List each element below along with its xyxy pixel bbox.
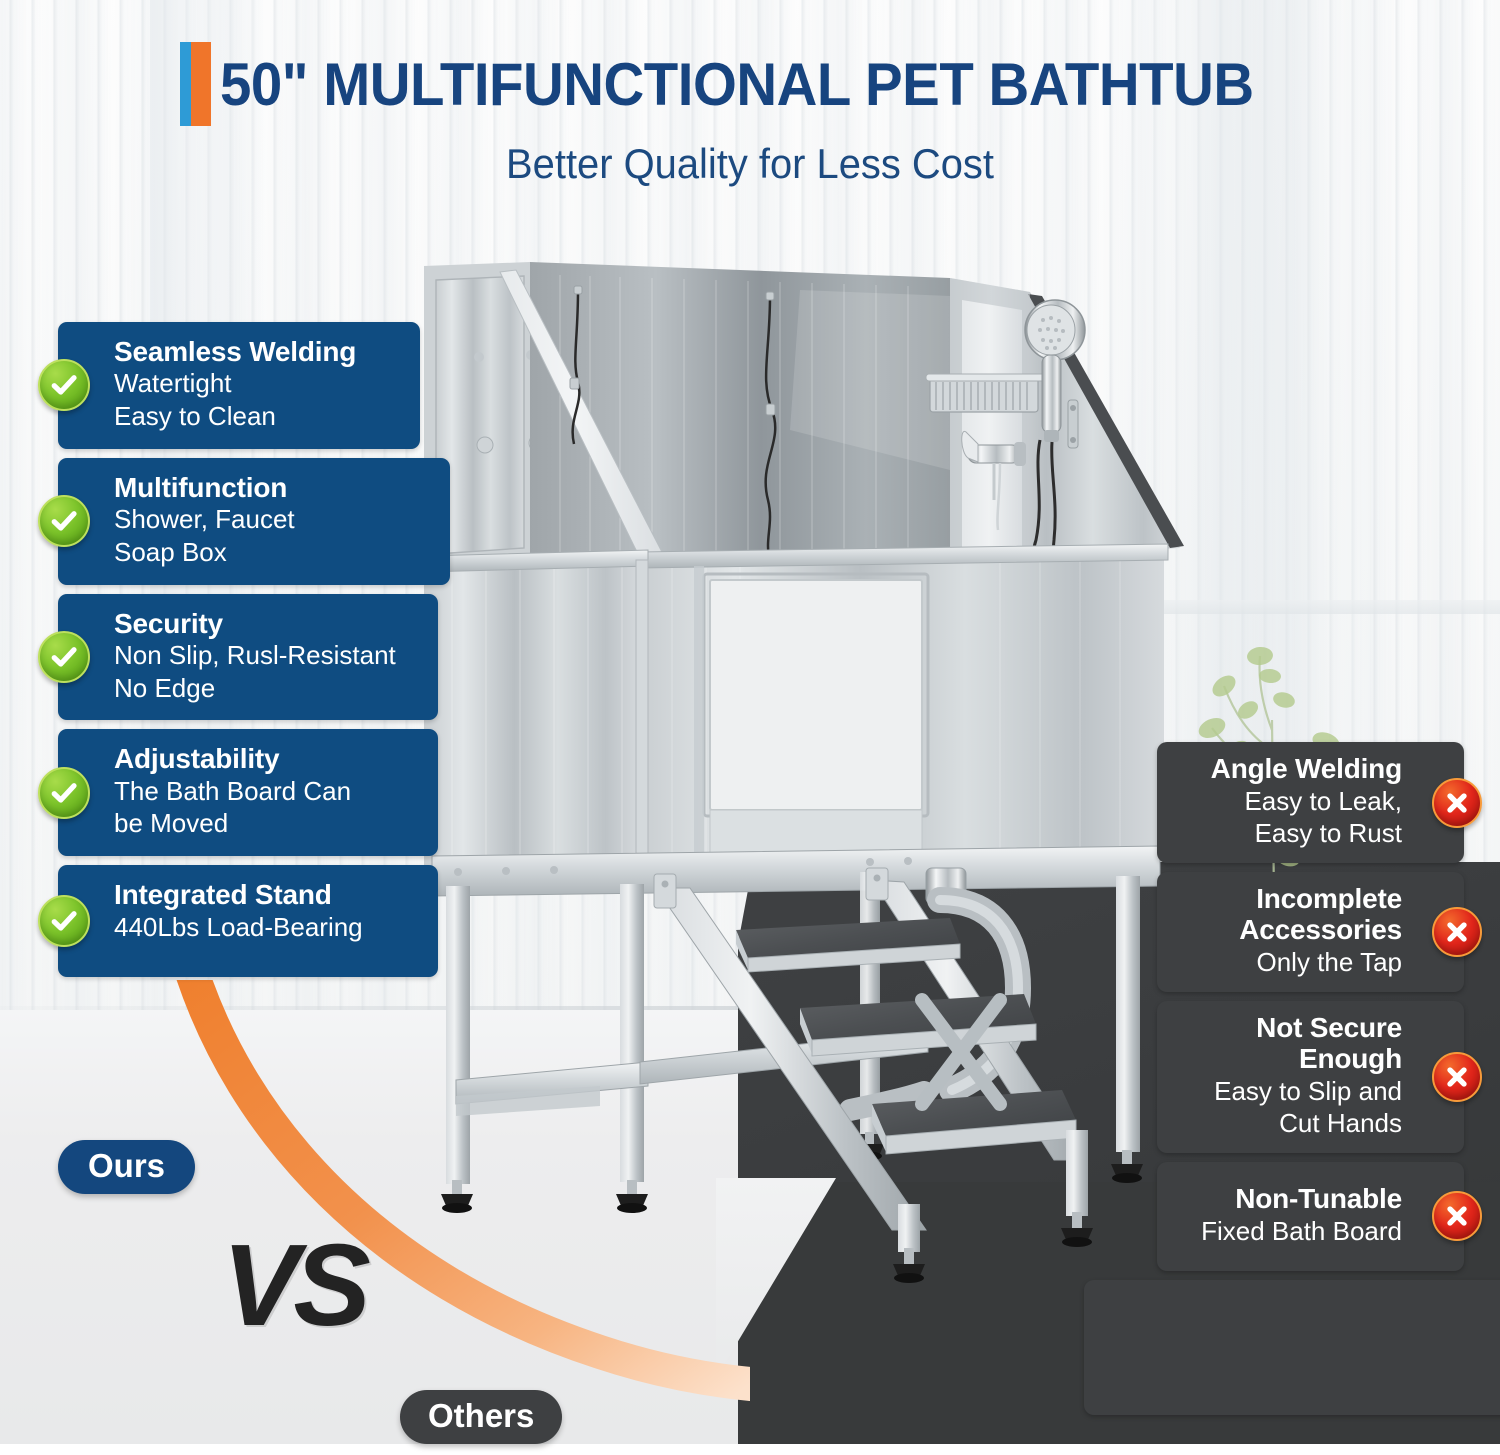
pro-title: Integrated Stand — [114, 879, 422, 910]
con-title: Non-Tunable — [1175, 1184, 1402, 1215]
cons-list: Angle Welding Easy to Leak, Easy to Rust… — [1084, 742, 1464, 1424]
check-circle-icon — [38, 895, 90, 947]
pro-item-integrated-stand[interactable]: Integrated Stand 440Lbs Load-Bearing — [58, 865, 438, 977]
pro-desc-line1: Non Slip, Rusl-Resistant — [114, 640, 422, 672]
con-title-line1: Incomplete — [1175, 884, 1402, 915]
pro-title: Multifunction — [114, 472, 434, 503]
con-item-incomplete-accessories[interactable]: Incomplete Accessories Only the Tap — [1157, 872, 1464, 992]
con-item-angle-welding[interactable]: Angle Welding Easy to Leak, Easy to Rust — [1157, 742, 1464, 863]
title-accent-bars — [180, 42, 211, 126]
pros-list: Seamless Welding Watertight Easy to Clea… — [58, 322, 478, 986]
pro-desc-line2: Easy to Clean — [114, 401, 404, 433]
pro-desc-line2: Soap Box — [114, 537, 434, 569]
con-desc-line2: Easy to Break — [1102, 1362, 1500, 1393]
con-desc-line1: Easy to Slip and — [1175, 1076, 1402, 1107]
pro-desc-line2: be Moved — [114, 808, 422, 840]
con-title: Spllce Type — [1102, 1298, 1500, 1329]
pro-desc-line1: 440Lbs Load-Bearing — [114, 912, 422, 944]
con-title: Angle Welding — [1175, 754, 1402, 785]
con-desc-line1: Easy to Leak, — [1175, 786, 1402, 817]
x-circle-icon — [1432, 907, 1482, 957]
check-circle-icon — [38, 767, 90, 819]
con-desc-line2: Cut Hands — [1175, 1108, 1402, 1139]
badge-ours: Ours — [58, 1140, 195, 1194]
con-item-not-secure-enough[interactable]: Not Secure Enough Easy to Slip and Cut H… — [1157, 1001, 1464, 1153]
badge-others: Others — [400, 1390, 562, 1444]
pro-title: Seamless Welding — [114, 336, 404, 367]
pro-desc-line1: Watertight — [114, 368, 404, 400]
pro-desc-line2: No Edge — [114, 673, 422, 705]
pro-item-security[interactable]: Security Non Slip, Rusl-Resistant No Edg… — [58, 594, 438, 721]
con-item-splice-type[interactable]: Spllce Type Small Bearing Capacity Easy … — [1084, 1280, 1500, 1415]
check-circle-icon — [38, 631, 90, 683]
pro-desc-line1: The Bath Board Can — [114, 776, 422, 808]
page-subtitle: Better Quality for Less Cost — [38, 140, 1463, 188]
con-title-line2: Enough — [1175, 1044, 1402, 1075]
header: 50" MULTIFUNCTIONAL PET BATHTUB Better Q… — [0, 0, 1500, 188]
accent-bar-blue — [180, 42, 191, 126]
con-title-line1: Not Secure — [1175, 1013, 1402, 1044]
vs-label: VS — [222, 1218, 365, 1352]
con-item-non-tunable[interactable]: Non-Tunable Fixed Bath Board — [1157, 1162, 1464, 1271]
x-circle-icon — [1432, 1191, 1482, 1241]
x-circle-icon — [1432, 1052, 1482, 1102]
pro-desc-line1: Shower, Faucet — [114, 504, 434, 536]
con-desc-line1: Small Bearing Capacity — [1102, 1330, 1500, 1361]
check-circle-icon — [38, 359, 90, 411]
title-row: 50" MULTIFUNCTIONAL PET BATHTUB — [0, 0, 1500, 126]
page-title: 50" MULTIFUNCTIONAL PET BATHTUB — [220, 50, 1254, 119]
x-circle-icon — [1432, 778, 1482, 828]
pro-item-multifunction[interactable]: Multifunction Shower, Faucet Soap Box — [58, 458, 450, 585]
pro-item-seamless-welding[interactable]: Seamless Welding Watertight Easy to Clea… — [58, 322, 420, 449]
pro-title: Adjustability — [114, 743, 422, 774]
orange-swoosh-arc — [130, 980, 750, 1450]
accent-bar-orange — [191, 42, 211, 126]
pro-title: Security — [114, 608, 422, 639]
con-desc-line1: Fixed Bath Board — [1175, 1216, 1402, 1247]
con-desc-line2: Easy to Rust — [1175, 818, 1402, 849]
check-circle-icon — [38, 495, 90, 547]
con-desc-line1: Only the Tap — [1175, 947, 1402, 978]
pro-item-adjustability[interactable]: Adjustability The Bath Board Can be Move… — [58, 729, 438, 856]
con-title-line2: Accessories — [1175, 915, 1402, 946]
